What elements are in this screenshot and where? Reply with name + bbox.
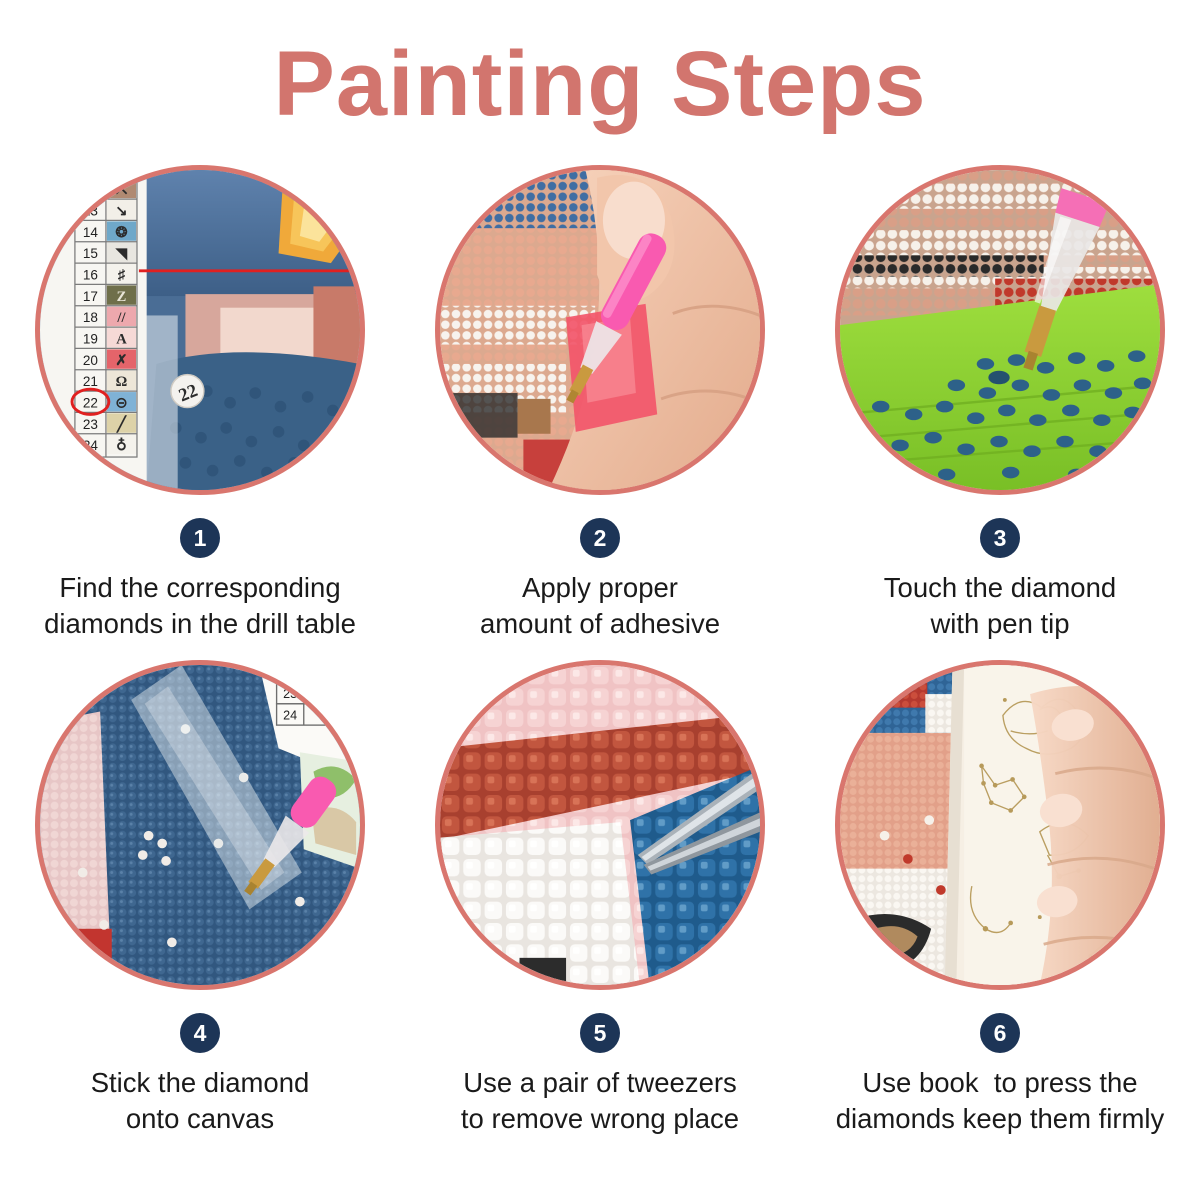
step-5-photo-frame xyxy=(435,660,765,990)
step-3-photo-frame xyxy=(835,165,1165,495)
svg-text:13: 13 xyxy=(83,204,98,219)
step-card-3: 3 Touch the diamond with pen tip xyxy=(800,160,1200,655)
step-1-photo-frame: 22 xyxy=(35,165,365,495)
svg-text:⨉: ⨉ xyxy=(115,182,129,198)
svg-text:Ω: Ω xyxy=(116,374,128,390)
step-card-2: 2 Apply proper amount of adhesive xyxy=(400,160,800,655)
step-badge-2: 2 xyxy=(580,518,620,558)
infographic-page: Painting Steps xyxy=(0,0,1200,1200)
svg-text:22: 22 xyxy=(83,396,98,411)
svg-text:17: 17 xyxy=(83,289,98,304)
step-card-5: 5 Use a pair of tweezers to remove wrong… xyxy=(400,655,800,1150)
svg-text:14: 14 xyxy=(83,225,99,240)
svg-text:♯: ♯ xyxy=(118,268,126,284)
svg-text:23: 23 xyxy=(83,417,98,432)
step-card-1: 22 xyxy=(0,160,400,655)
step-badge-5: 5 xyxy=(580,1013,620,1053)
steps-grid: 22 xyxy=(0,160,1200,1150)
svg-text:23: 23 xyxy=(283,687,297,701)
svg-text:❂: ❂ xyxy=(114,225,128,241)
svg-text:21: 21 xyxy=(83,374,98,389)
step-caption-4: Stick the diamond onto canvas xyxy=(4,1065,396,1137)
step-badge-1: 1 xyxy=(180,518,220,558)
drill-table-with-diamond-bag-photo: 22 xyxy=(40,170,360,490)
step-caption-2: Apply proper amount of adhesive xyxy=(404,570,796,642)
step-2-photo-frame xyxy=(435,165,765,495)
svg-text:✗: ✗ xyxy=(115,353,127,369)
hand-dipping-pen-in-adhesive-photo xyxy=(440,170,760,490)
step-caption-5: Use a pair of tweezers to remove wrong p… xyxy=(404,1065,796,1137)
step-4-photo-frame: 23 24 xyxy=(35,660,365,990)
sticking-diamond-onto-canvas-photo: 23 24 xyxy=(40,665,360,985)
svg-text:↘: ↘ xyxy=(115,204,127,220)
step-caption-1: Find the corresponding diamonds in the d… xyxy=(4,570,396,642)
pen-tip-touching-diamonds-photo xyxy=(840,170,1160,490)
svg-text:24: 24 xyxy=(283,708,297,722)
svg-text:19: 19 xyxy=(83,332,98,347)
svg-text:15: 15 xyxy=(83,246,98,261)
svg-text:20: 20 xyxy=(83,353,99,368)
step-6-photo-frame xyxy=(835,660,1165,990)
svg-text:24: 24 xyxy=(83,438,99,453)
svg-text:16: 16 xyxy=(83,268,98,283)
svg-text:⊝: ⊝ xyxy=(115,396,127,412)
pressing-diamonds-with-book-photo xyxy=(840,665,1160,985)
step-card-6: 6 Use book to press the diamonds keep th… xyxy=(800,655,1200,1150)
page-title: Painting Steps xyxy=(0,36,1200,133)
svg-text:◥: ◥ xyxy=(115,246,128,262)
step-badge-6: 6 xyxy=(980,1013,1020,1053)
step-caption-6: Use book to press the diamonds keep them… xyxy=(804,1065,1196,1137)
svg-text:♁: ♁ xyxy=(116,437,127,454)
svg-text:A: A xyxy=(116,332,127,348)
step-badge-4: 4 xyxy=(180,1013,220,1053)
step-card-4: 23 24 xyxy=(0,655,400,1150)
svg-text:Z: Z xyxy=(117,289,127,305)
svg-text:18: 18 xyxy=(83,310,98,325)
step-caption-3: Touch the diamond with pen tip xyxy=(804,570,1196,642)
svg-text://: // xyxy=(116,310,126,326)
tweezers-removing-diamond-photo xyxy=(440,665,760,985)
step-badge-3: 3 xyxy=(980,518,1020,558)
